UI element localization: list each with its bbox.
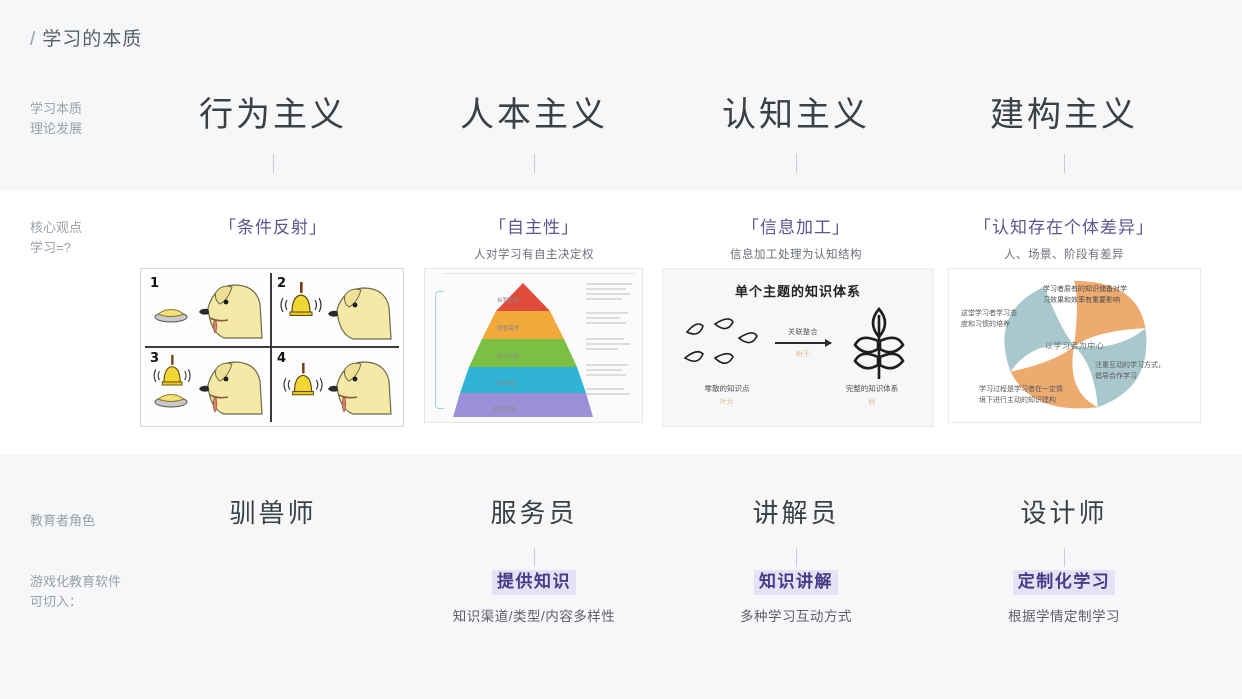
core-quote-sub: 信息加工处理为认知结构 <box>665 246 927 262</box>
panel-number: 1 <box>150 276 159 291</box>
maslow-annotation-lines <box>586 283 638 398</box>
core-quote: 「自主性」 <box>403 216 665 240</box>
maslow-level-safety <box>460 367 586 393</box>
software-badge-sub: 多种学习互动方式 <box>665 605 927 625</box>
rail-label-core: 核心观点 学习=? <box>30 218 82 258</box>
maslow-label-4: 生理需求 <box>493 405 515 413</box>
plant-tree-icon <box>847 305 911 383</box>
software-badge[interactable]: 定制化学习 <box>1013 570 1116 595</box>
rail-label-software: 游戏化教育软件 可切入： <box>30 572 121 612</box>
role-title: 设计师 <box>933 500 1195 526</box>
dog-head-icon <box>188 356 266 420</box>
food-bowl-icon <box>153 388 189 408</box>
pavlov-panel-2: 2 <box>272 273 399 348</box>
right-caption-sub: 树 <box>817 397 927 407</box>
software-entry-humanism: 提供知识 知识渠道/类型/内容多样性 <box>403 570 665 625</box>
pavlov-panel-3: 3 <box>145 348 272 423</box>
infographic-page: /学习的本质 学习本质 理论发展 核心观点 学习=? 教育者角色 游戏化教育软件… <box>0 0 1242 699</box>
pinwheel-center-label: 以学习者为中心 <box>1045 340 1105 351</box>
breadcrumb-slash: / <box>30 29 36 50</box>
maslow-label-0: 自我实现 <box>497 296 519 304</box>
pinwheel-note-left: 这堂学习者学习态 度和习惯的培养 <box>961 309 1043 330</box>
pinwheel-note-bottom: 学习过程是学习者在一定情 境下进行主动的知识建构 <box>979 385 1091 406</box>
theory-title: 认知主义 <box>665 98 927 132</box>
maslow-label-2: 爱与归属 <box>497 352 519 360</box>
theory-title: 人本主义 <box>403 98 665 132</box>
educator-role-behaviorism: 驯兽师 <box>142 500 404 526</box>
scattered-leaves-icon <box>681 314 771 376</box>
maslow-label-1: 尊重需求 <box>497 324 519 332</box>
maslow-level-love <box>469 339 577 367</box>
software-badge[interactable]: 知识讲解 <box>754 570 838 595</box>
figure-maslow-pyramid: 自我实现 尊重需求 爱与归属 安全需求 生理需求 <box>424 268 643 423</box>
role-title: 服务员 <box>403 500 665 526</box>
core-quote-sub: 人对学习有自主决定权 <box>403 246 665 262</box>
software-badge-sub: 知识渠道/类型/内容多样性 <box>403 605 665 625</box>
saliva-drip <box>342 398 346 412</box>
educator-role-constructivism: 设计师 <box>933 500 1195 567</box>
left-caption: 零散的知识点 <box>705 384 750 393</box>
software-entry-cognitivism: 知识讲解 多种学习互动方式 <box>665 570 927 625</box>
header-rule <box>443 273 636 274</box>
software-entry-constructivism: 定制化学习 根据学情定制学习 <box>933 570 1195 625</box>
theory-heading-constructivism: 建构主义 <box>933 98 1195 173</box>
rail-label-role: 教育者角色 <box>30 511 95 531</box>
left-caption-sub: 叶片 <box>677 397 777 407</box>
figure-knowledge-system: 单个主题的知识体系 关联整合 树干 <box>662 268 934 427</box>
educator-role-cognitivism: 讲解员 <box>665 500 927 567</box>
food-bowl-icon <box>153 303 189 323</box>
core-quote-sub: 人、场景、阶段有差异 <box>933 246 1195 262</box>
arrow-icon <box>775 342 831 344</box>
core-viewpoint-constructivism: 「认知存在个体差异」 人、场景、阶段有差异 <box>933 216 1195 262</box>
maslow-label-3: 安全需求 <box>495 379 517 387</box>
theory-title: 建构主义 <box>933 98 1195 132</box>
pavlov-panel-1: 1 <box>145 273 272 348</box>
grouping-brace <box>435 291 444 409</box>
theory-title: 行为主义 <box>142 98 404 132</box>
connector-tick <box>534 548 535 567</box>
connector-tick <box>273 154 274 173</box>
knowledge-title: 单个主题的知识体系 <box>663 281 933 300</box>
page-title: 学习的本质 <box>42 29 142 50</box>
dog-head-icon <box>317 282 395 344</box>
connector-tick <box>1064 154 1065 173</box>
core-quote: 「信息加工」 <box>665 216 927 240</box>
maslow-level-physiological <box>453 393 593 417</box>
connector-tick <box>1064 548 1065 567</box>
educator-role-humanism: 服务员 <box>403 500 665 567</box>
arrow-label: 关联整合 <box>775 327 831 337</box>
core-viewpoint-humanism: 「自主性」 人对学习有自主决定权 <box>403 216 665 262</box>
dog-head-icon <box>188 278 266 344</box>
connector-tick <box>534 154 535 173</box>
right-caption: 完整的知识体系 <box>846 384 899 393</box>
connector-tick <box>796 548 797 567</box>
role-title: 驯兽师 <box>142 500 404 526</box>
right-caption-group: 完整的知识体系 树 <box>817 383 927 407</box>
theory-heading-behaviorism: 行为主义 <box>142 98 404 173</box>
core-viewpoint-cognitivism: 「信息加工」 信息加工处理为认知结构 <box>665 216 927 262</box>
rail-label-theory: 学习本质 理论发展 <box>30 99 82 139</box>
left-caption-group: 零散的知识点 叶片 <box>677 383 777 407</box>
figure-constructivism-pinwheel: 以学习者为中心 学习者原有的知识储备对学 习效果和效率有重要影响 注重互动的学习… <box>948 268 1201 423</box>
role-title: 讲解员 <box>665 500 927 526</box>
pinwheel-note-top: 学习者原有的知识储备对学 习效果和效率有重要影响 <box>1043 285 1147 306</box>
pinwheel-note-right: 注重互动的学习方式， 倡导合作学习 <box>1095 361 1187 382</box>
saliva-drip <box>213 398 217 412</box>
breadcrumb: /学习的本质 <box>30 24 142 51</box>
dog-head-icon <box>317 356 395 420</box>
core-viewpoint-behaviorism: 「条件反射」 <box>142 216 404 240</box>
integration-arrow-group: 关联整合 树干 <box>775 327 831 359</box>
core-quote: 「认知存在个体差异」 <box>933 216 1195 240</box>
connector-tick <box>796 154 797 173</box>
software-badge[interactable]: 提供知识 <box>492 570 576 595</box>
arrow-sublabel: 树干 <box>775 349 831 359</box>
maslow-pyramid-shape <box>453 281 593 419</box>
pavlov-panel-4: 4 <box>272 348 399 423</box>
figure-pavlov-conditioning: 1 2 <box>140 268 404 427</box>
maslow-level-esteem <box>482 311 564 339</box>
saliva-drip <box>213 321 217 333</box>
theory-heading-humanism: 人本主义 <box>403 98 665 173</box>
core-quote: 「条件反射」 <box>142 216 404 240</box>
software-badge-sub: 根据学情定制学习 <box>933 605 1195 625</box>
theory-heading-cognitivism: 认知主义 <box>665 98 927 173</box>
